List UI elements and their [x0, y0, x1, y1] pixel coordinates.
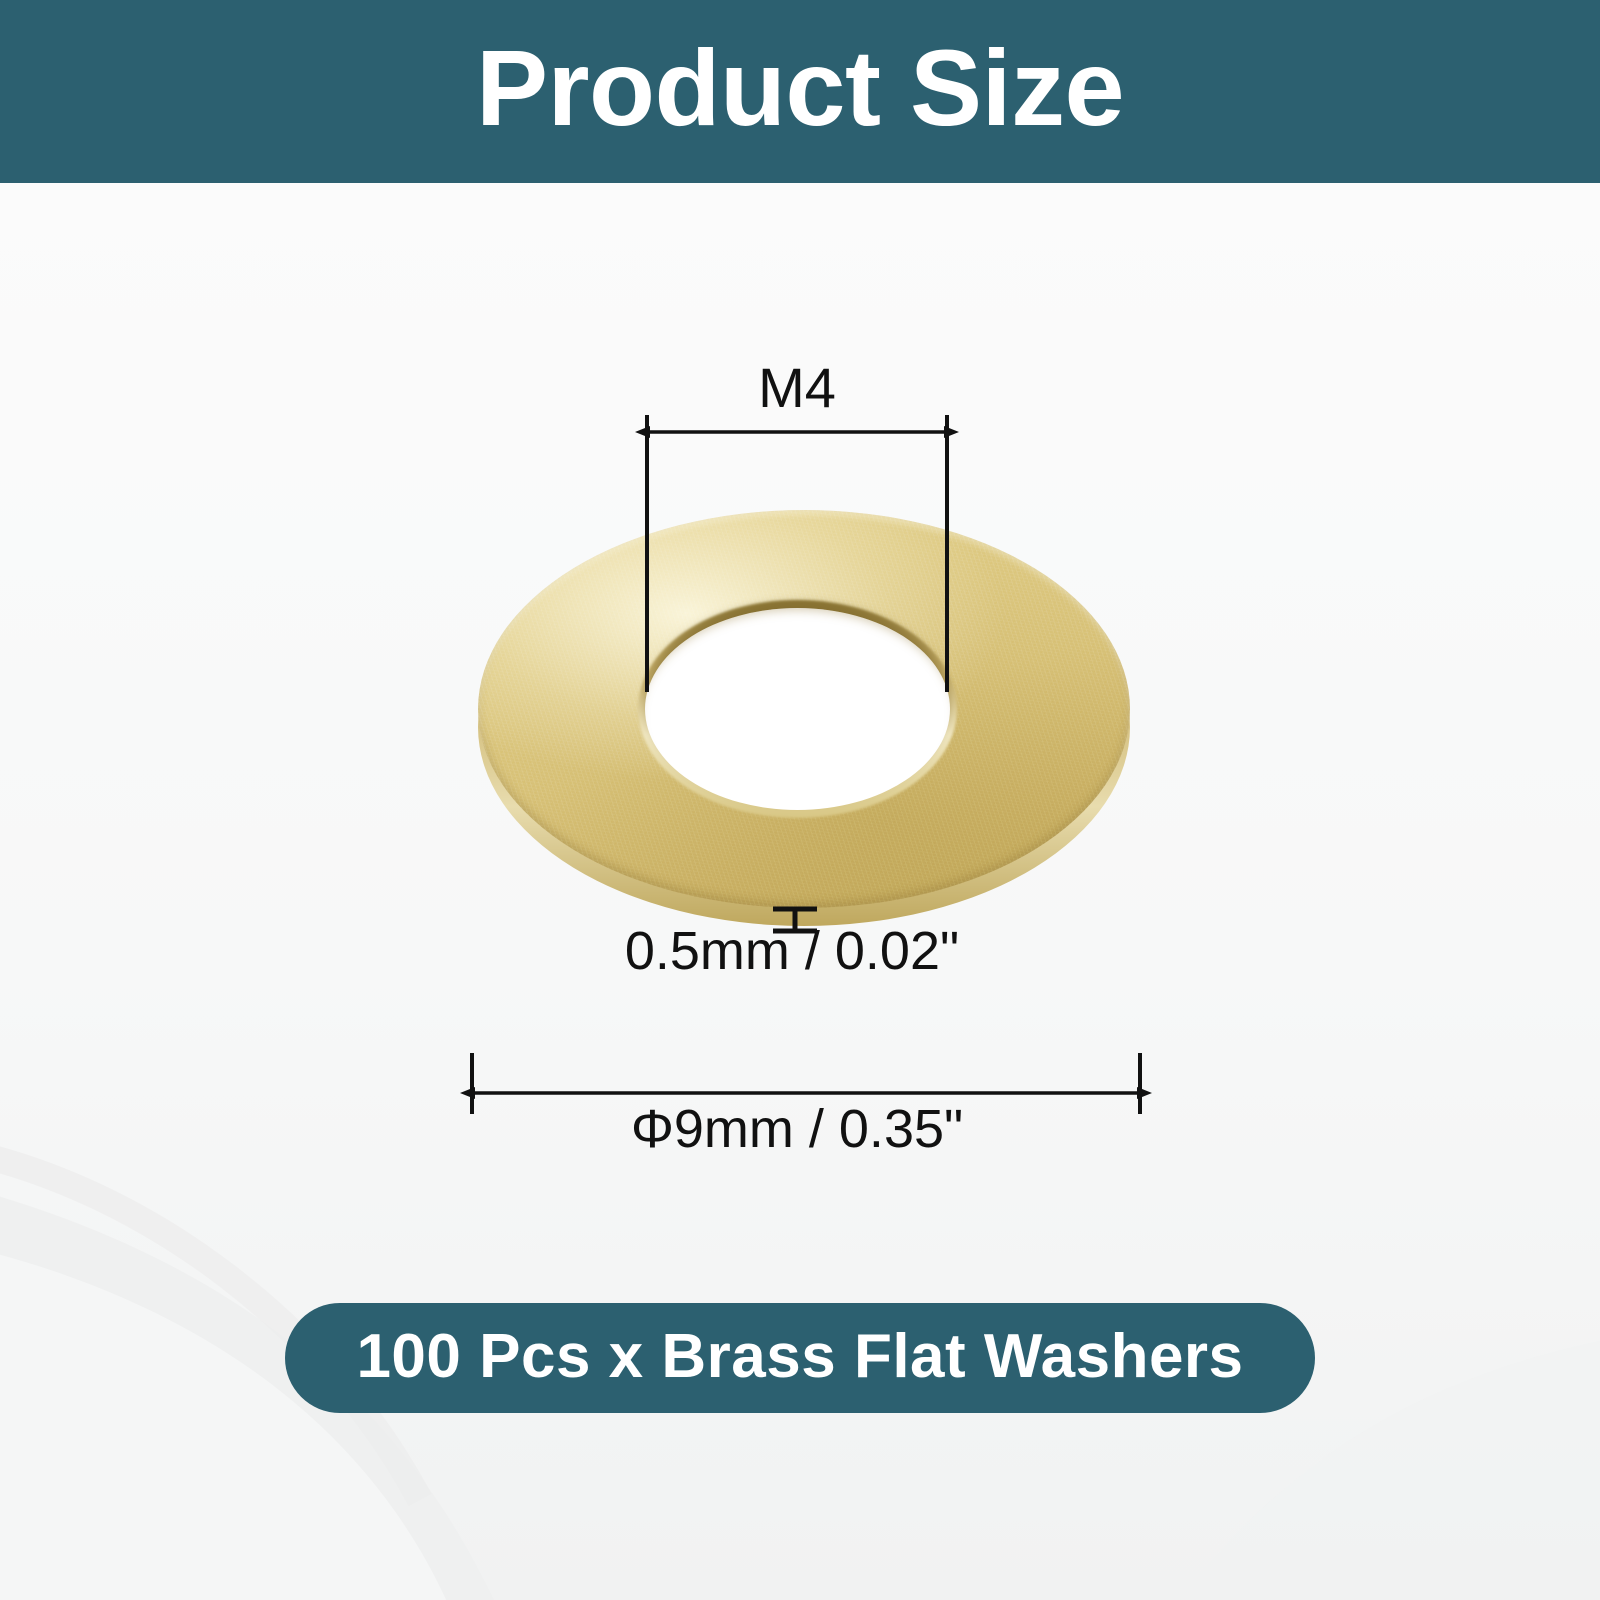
quantity-badge-label: 100 Pcs x Brass Flat Washers [356, 1321, 1243, 1392]
dimension-label-outer-diameter: Φ9mm / 0.35" [0, 1098, 1597, 1160]
dimension-label-inner-thread: M4 [0, 355, 1597, 420]
product-size-infographic: Product Size [0, 0, 1600, 1600]
header-banner: Product Size [0, 0, 1600, 183]
washer-center-hole [645, 608, 950, 810]
brass-flat-washer-image [478, 510, 1130, 925]
quantity-badge: 100 Pcs x Brass Flat Washers [285, 1303, 1315, 1413]
page-title: Product Size [476, 34, 1124, 142]
dimension-label-thickness: 0.5mm / 0.02" [0, 920, 1592, 982]
